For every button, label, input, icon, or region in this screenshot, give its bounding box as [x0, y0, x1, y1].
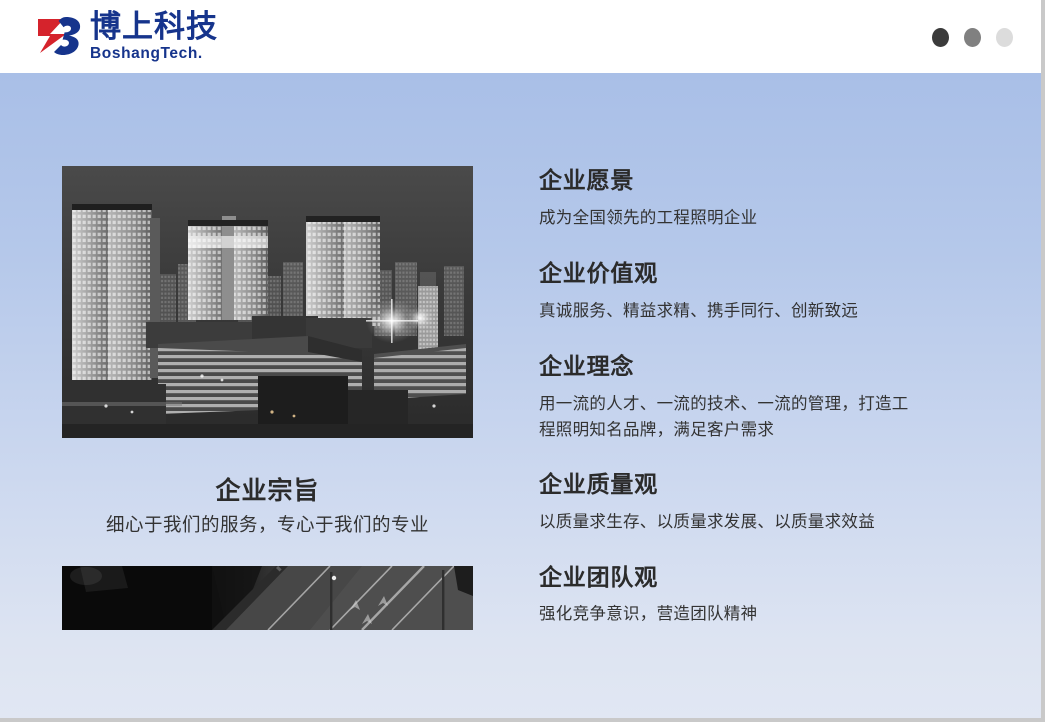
value-item-quality: 企业质量观 以质量求生存、以质量求发展、以质量求效益 — [539, 471, 959, 535]
value-desc-vision: 成为全国领先的工程照明企业 — [539, 205, 919, 232]
carousel-indicator-dots[interactable] — [932, 28, 1013, 47]
value-item-vision: 企业愿景 成为全国领先的工程照明企业 — [539, 167, 959, 231]
highway-night-photo — [62, 566, 473, 630]
value-title-values: 企业价值观 — [539, 260, 959, 289]
brand-logo-link[interactable]: 博上科技 BoshangTech. — [36, 12, 218, 61]
right-column: 企业愿景 成为全国领先的工程照明企业 企业价值观 真诚服务、精益求精、携手同行、… — [539, 167, 959, 628]
dot-active[interactable] — [932, 28, 949, 47]
boshang-b-logo-icon — [36, 15, 82, 57]
highway-illustration — [62, 566, 473, 630]
city-skyline-illustration — [62, 166, 473, 438]
value-item-team: 企业团队观 强化竞争意识，营造团队精神 — [539, 564, 959, 628]
value-title-team: 企业团队观 — [539, 564, 959, 593]
value-desc-values: 真诚服务、精益求精、携手同行、创新致远 — [539, 298, 919, 325]
value-title-vision: 企业愿景 — [539, 167, 959, 196]
brand-name-en: BoshangTech. — [90, 46, 218, 62]
value-item-idea: 企业理念 用一流的人才、一流的技术、一流的管理，打造工程照明知名品牌，满足客户需… — [539, 353, 959, 444]
dot-third[interactable] — [996, 28, 1013, 47]
city-skyline-night-photo — [62, 166, 473, 438]
value-item-values: 企业价值观 真诚服务、精益求精、携手同行、创新致远 — [539, 260, 959, 324]
page-root: 博上科技 BoshangTech. — [0, 0, 1041, 718]
brand-name-cn: 博上科技 — [90, 12, 218, 44]
brand-text-block: 博上科技 BoshangTech. — [90, 12, 218, 61]
value-title-quality: 企业质量观 — [539, 471, 959, 500]
value-title-idea: 企业理念 — [539, 353, 959, 382]
purpose-title: 企业宗旨 — [62, 475, 473, 506]
value-desc-quality: 以质量求生存、以质量求发展、以质量求效益 — [539, 509, 919, 536]
dot-second[interactable] — [964, 28, 981, 47]
site-header: 博上科技 BoshangTech. — [0, 0, 1041, 73]
value-desc-idea: 用一流的人才、一流的技术、一流的管理，打造工程照明知名品牌，满足客户需求 — [539, 391, 919, 444]
purpose-text: 细心于我们的服务，专心于我们的专业 — [62, 513, 473, 540]
value-desc-team: 强化竞争意识，营造团队精神 — [539, 601, 919, 628]
left-column: 企业宗旨 细心于我们的服务，专心于我们的专业 — [62, 166, 473, 630]
purpose-block: 企业宗旨 细心于我们的服务，专心于我们的专业 — [62, 475, 473, 540]
main-content-panel: 企业宗旨 细心于我们的服务，专心于我们的专业 — [0, 73, 1041, 718]
